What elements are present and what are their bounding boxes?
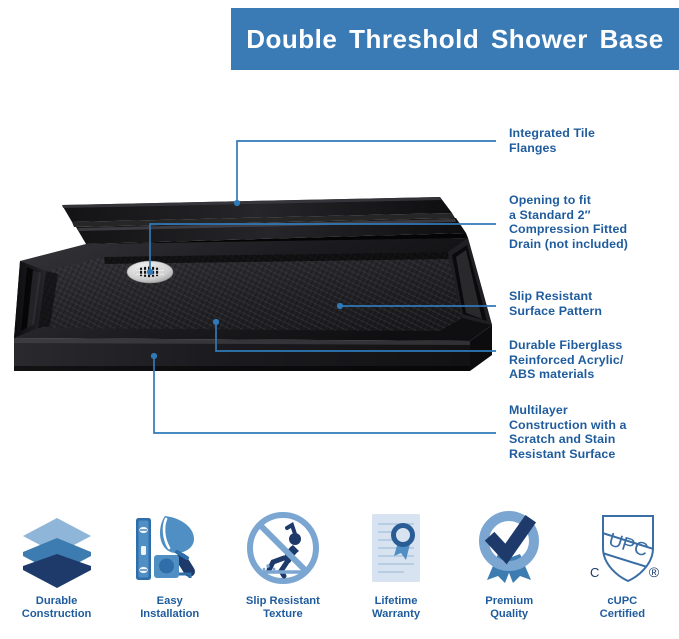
callout-label-drain-opening: Opening to fit a Standard 2″ Compression… — [509, 193, 628, 251]
feature-premium-quality: Premium Quality — [453, 505, 566, 639]
callout-label-integrated-tile-flanges: Integrated Tile Flanges — [509, 126, 595, 155]
certificate-icon — [356, 505, 436, 591]
no-slip-icon — [243, 505, 323, 591]
feature-cupc-certified: UPC C ® cUPC Certified — [566, 505, 679, 639]
infographic-canvas: Double Threshold Shower Base — [0, 0, 679, 639]
feature-slip-resistant-texture: Slip Resistant Texture — [226, 505, 339, 639]
feature-caption: Slip Resistant Texture — [246, 595, 320, 621]
feature-caption: Durable Construction — [22, 595, 92, 621]
cupc-mark-left: C — [590, 565, 599, 580]
page-title: Double Threshold Shower Base — [231, 8, 679, 70]
callout-label-slip-resistant-surface: Slip Resistant Surface Pattern — [509, 289, 602, 318]
drain-cover — [127, 261, 173, 283]
base-body — [14, 238, 492, 371]
feature-caption: cUPC Certified — [600, 595, 645, 621]
feature-easy-installation: Easy Installation — [113, 505, 226, 639]
feature-durable-construction: Durable Construction — [0, 505, 113, 639]
award-check-icon — [469, 505, 549, 591]
layers-icon — [17, 505, 97, 591]
cupc-mark-right: ® — [649, 564, 660, 580]
feature-caption: Premium Quality — [485, 595, 533, 621]
callout-label-multilayer-construction: Multilayer Construction with a Scratch a… — [509, 403, 627, 461]
feature-caption: Lifetime Warranty — [372, 595, 420, 621]
callout-label-durable-fiberglass: Durable Fiberglass Reinforced Acrylic/ A… — [509, 338, 623, 382]
upc-shield-icon: UPC C ® — [579, 505, 665, 591]
feature-caption: Easy Installation — [140, 595, 199, 621]
feature-lifetime-warranty: Lifetime Warranty — [339, 505, 452, 639]
feature-badges-row: Durable Construction — [0, 505, 679, 639]
shower-base-illustration — [0, 175, 500, 405]
header-banner: Double Threshold Shower Base — [231, 8, 679, 70]
tools-level-trowel-icon — [130, 505, 210, 591]
